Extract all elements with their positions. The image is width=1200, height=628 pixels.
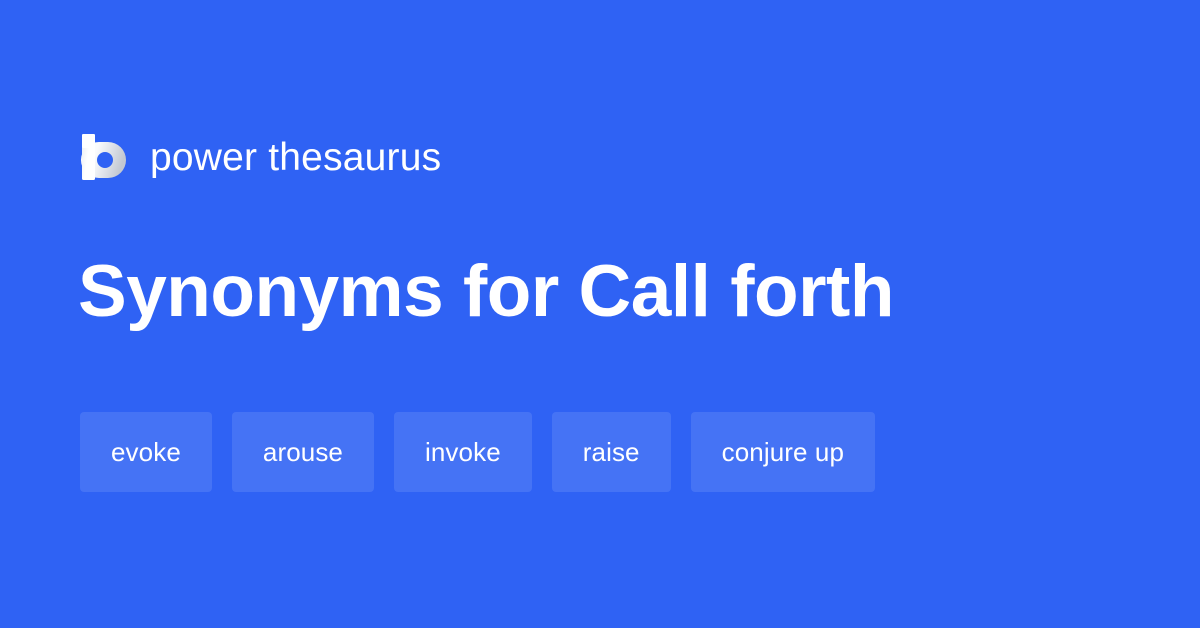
power-thesaurus-logo-icon: [80, 130, 126, 184]
synonym-chip-label: conjure up: [722, 439, 844, 465]
synonym-chip[interactable]: arouse: [232, 412, 374, 492]
brand-header[interactable]: power thesaurus: [80, 128, 441, 186]
social-share-card: power thesaurus Synonyms for Call forth …: [0, 0, 1200, 628]
synonym-chip-label: arouse: [263, 439, 343, 465]
synonym-chip-list: evoke arouse invoke raise conjure up: [80, 412, 1130, 492]
synonym-chip[interactable]: invoke: [394, 412, 532, 492]
synonym-chip[interactable]: raise: [552, 412, 671, 492]
synonym-chip-label: evoke: [111, 439, 181, 465]
synonym-chip[interactable]: evoke: [80, 412, 212, 492]
brand-wordmark: power thesaurus: [150, 138, 441, 177]
page-title: Synonyms for Call forth: [78, 247, 1118, 337]
synonym-chip-label: invoke: [425, 439, 501, 465]
synonym-chip-label: raise: [583, 439, 640, 465]
synonym-chip[interactable]: conjure up: [691, 412, 875, 492]
